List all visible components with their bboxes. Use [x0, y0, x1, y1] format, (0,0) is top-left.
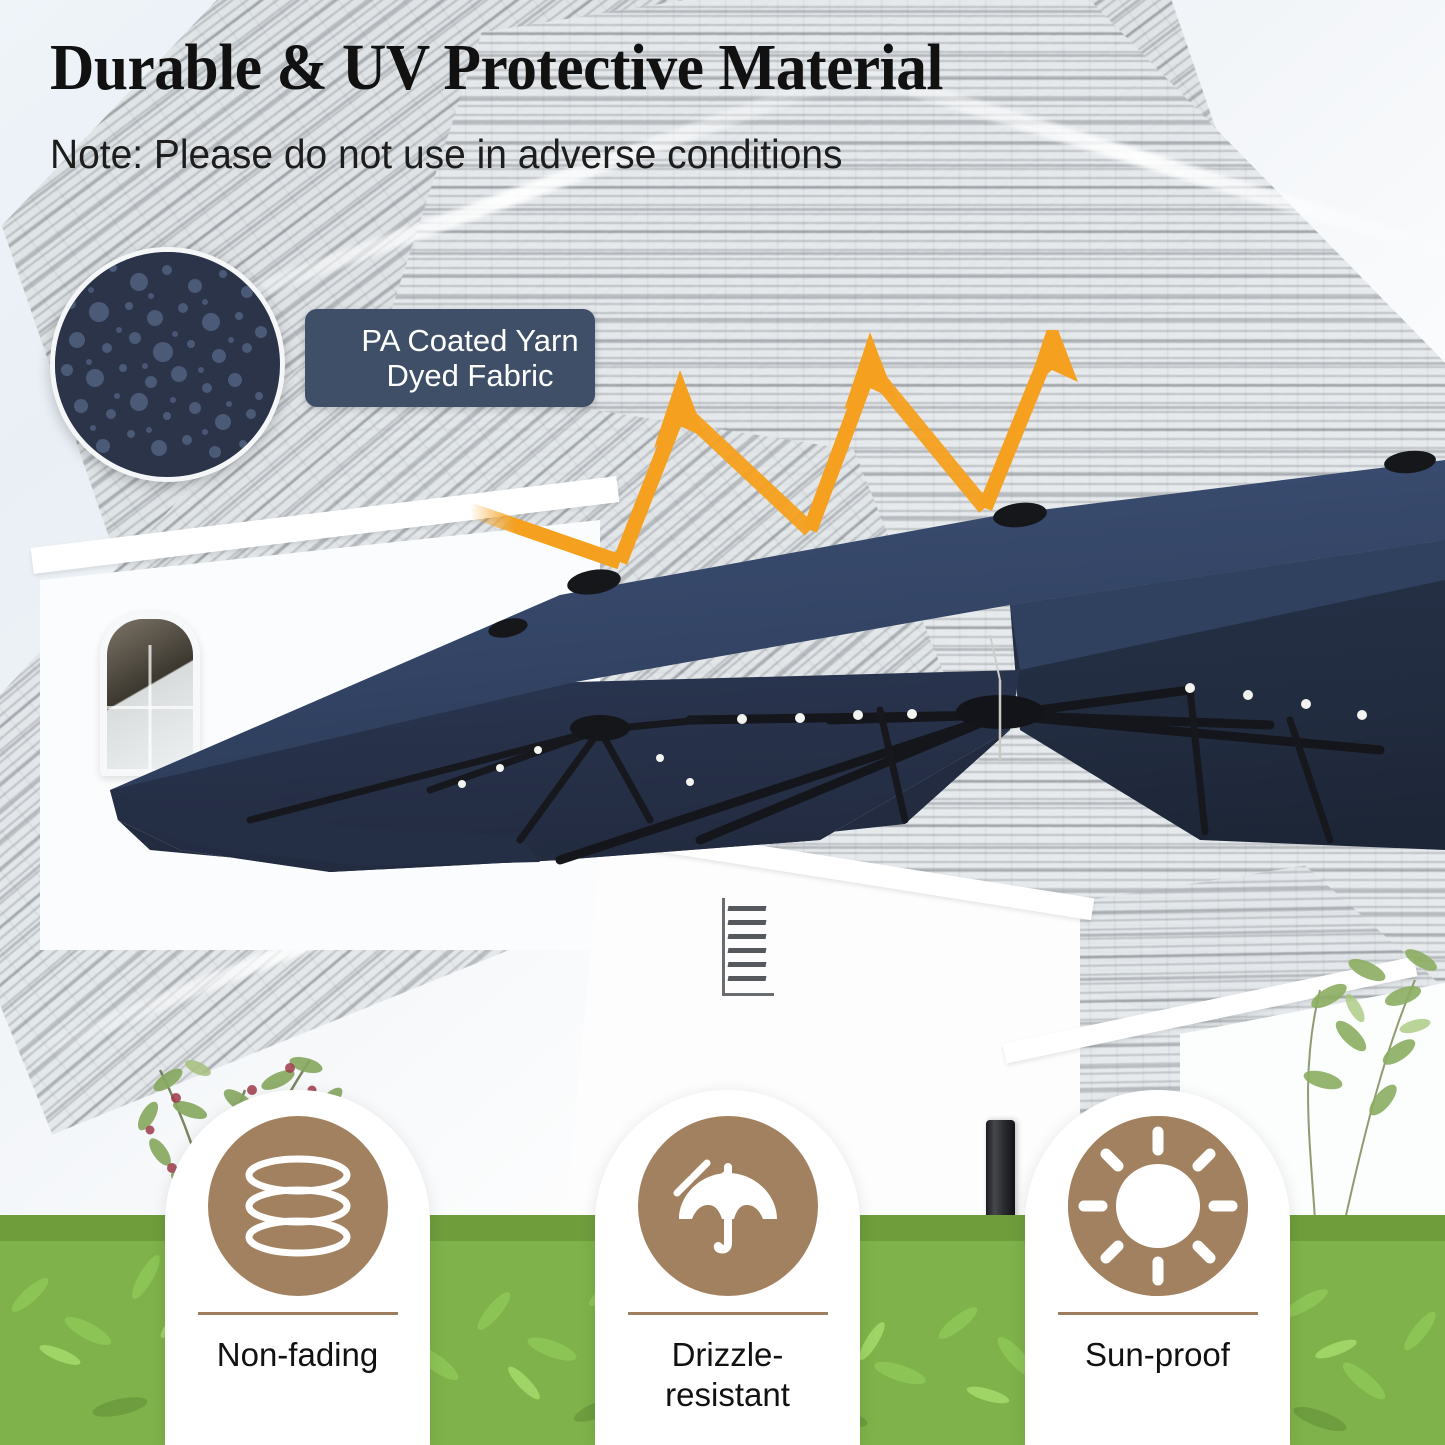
fabric-swatch-circle: [50, 247, 285, 482]
note-text: Note: Please do not use in adverse condi…: [50, 132, 842, 177]
fabric-callout: PA Coated Yarn Dyed Fabric: [50, 247, 550, 472]
fabric-badge-label: PA Coated Yarn Dyed Fabric: [321, 323, 578, 394]
feature-card-sun-proof[interactable]: Sun-proof: [1025, 1090, 1290, 1445]
stacked-rings-icon: [208, 1116, 388, 1296]
feature-card-non-fading[interactable]: Non-fading: [165, 1090, 430, 1445]
umbrella-rain-icon: [638, 1116, 818, 1296]
card-divider: [628, 1312, 828, 1315]
stacked-rings-glyph: [238, 1153, 358, 1259]
feature-label: Non-fading: [205, 1335, 390, 1375]
feature-label: Sun-proof: [1073, 1335, 1242, 1375]
card-divider: [1058, 1312, 1258, 1315]
feature-card-drizzle-resistant[interactable]: Drizzle- resistant: [595, 1090, 860, 1445]
umbrella-rain-glyph: [667, 1147, 789, 1265]
fabric-badge: PA Coated Yarn Dyed Fabric: [305, 309, 595, 407]
feature-label: Drizzle- resistant: [653, 1335, 802, 1416]
page-title: Durable & UV Protective Material: [50, 33, 943, 102]
card-divider: [198, 1312, 398, 1315]
water-droplets-icon: [55, 252, 270, 467]
product-infographic: Durable & UV Protective Material Note: P…: [0, 0, 1445, 1445]
sun-icon: [1068, 1116, 1248, 1296]
sun-glyph: [1068, 1116, 1248, 1296]
